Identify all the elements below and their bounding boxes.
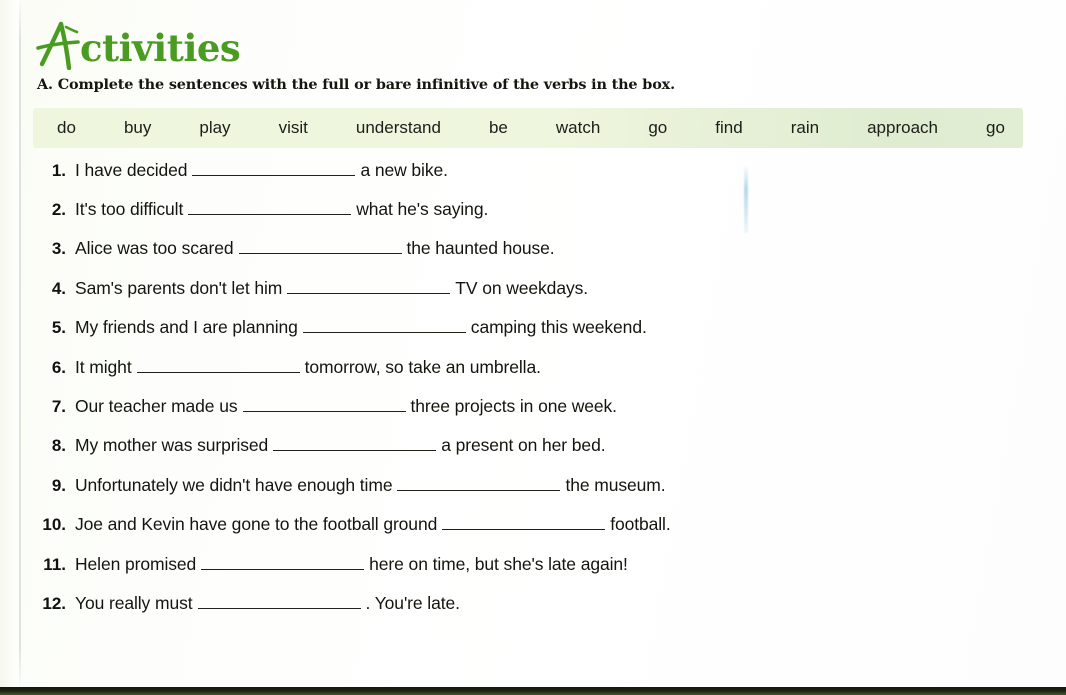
answer-blank[interactable] — [198, 591, 361, 609]
exercise-item-text-after: the museum. — [565, 475, 665, 496]
word-bank-item[interactable]: approach — [867, 118, 938, 138]
exercise-instruction: A. Complete the sentences with the full … — [37, 76, 675, 93]
answer-blank[interactable] — [243, 394, 406, 412]
word-bank-item[interactable]: rain — [791, 118, 819, 138]
exercise-item-number: 6. — [36, 358, 75, 378]
exercise-item: 2.It's too difficultwhat he's saying. — [36, 197, 1036, 236]
exercise-item-text-after: football. — [610, 514, 670, 535]
page-title: ctivities — [36, 18, 240, 70]
answer-blank[interactable] — [442, 513, 605, 531]
page-title-text: ctivities — [80, 30, 240, 70]
exercise-item-text-after: . You're late. — [366, 593, 460, 614]
exercise-item-text-after: a new bike. — [360, 160, 447, 181]
stylized-letter-a-icon — [36, 18, 82, 70]
word-bank-item[interactable]: visit — [279, 118, 308, 138]
exercise-item-number: 11. — [36, 555, 75, 575]
exercise-item-number: 7. — [36, 397, 75, 417]
word-bank-item[interactable]: buy — [124, 118, 151, 138]
exercise-item-text-before: Our teacher made us — [75, 396, 238, 417]
exercise-item-text-before: Helen promised — [75, 554, 196, 575]
exercise-item-number: 1. — [36, 161, 75, 181]
exercise-item-text-after: what he's saying. — [356, 199, 488, 220]
exercise-item-text-after: three projects in one week. — [411, 396, 617, 417]
exercise-item-number: 10. — [36, 515, 75, 535]
exercise-item-text-before: My friends and I are planning — [75, 317, 298, 338]
page-bottom-edge — [0, 687, 1066, 695]
exercise-item-text-after: TV on weekdays. — [455, 278, 588, 299]
exercise-item-text-before: Joe and Kevin have gone to the football … — [75, 514, 437, 535]
exercise-item-text-before: I have decided — [75, 160, 187, 181]
exercise-item-text-after: the haunted house. — [407, 238, 555, 259]
answer-blank[interactable] — [303, 316, 466, 334]
exercise-item-number: 9. — [36, 476, 75, 496]
exercise-item: 12.You really must. You're late. — [36, 591, 1036, 630]
exercise-item: 4.Sam's parents don't let himTV on weekd… — [36, 276, 1036, 315]
word-bank-item[interactable]: play — [199, 118, 230, 138]
answer-blank[interactable] — [137, 355, 300, 373]
word-bank-item[interactable]: be — [489, 118, 508, 138]
exercise-item-text-before: Unfortunately we didn't have enough time — [75, 475, 392, 496]
answer-blank[interactable] — [188, 197, 351, 215]
exercise-item-number: 12. — [36, 594, 75, 614]
exercise-item-text-before: It's too difficult — [75, 199, 183, 220]
answer-blank[interactable] — [192, 158, 355, 176]
exercise-item-number: 4. — [36, 279, 75, 299]
word-bank-item[interactable]: do — [57, 118, 76, 138]
exercise-item-text-before: Alice was too scared — [75, 238, 234, 259]
exercise-item: 9.Unfortunately we didn't have enough ti… — [36, 473, 1036, 512]
exercise-list: 1.I have decideda new bike.2.It's too di… — [36, 158, 1036, 631]
answer-blank[interactable] — [239, 237, 402, 255]
exercise-item-text-before: Sam's parents don't let him — [75, 278, 282, 299]
word-bank-item[interactable]: go — [648, 118, 667, 138]
exercise-item-number: 3. — [36, 239, 75, 259]
exercise-item: 1.I have decideda new bike. — [36, 158, 1036, 197]
exercise-item: 5.My friends and I are planningcamping t… — [36, 316, 1036, 355]
exercise-item-number: 2. — [36, 200, 75, 220]
exercise-item-text-after: camping this weekend. — [471, 317, 647, 338]
exercise-item: 3.Alice was too scaredthe haunted house. — [36, 237, 1036, 276]
exercise-item-text-after: a present on her bed. — [441, 435, 605, 456]
word-bank-box: do buy play visit understand be watch go… — [33, 108, 1023, 148]
word-bank-item[interactable]: go — [986, 118, 1005, 138]
exercise-item: 6.It mighttomorrow, so take an umbrella. — [36, 355, 1036, 394]
exercise-item-text-after: tomorrow, so take an umbrella. — [305, 357, 541, 378]
answer-blank[interactable] — [273, 434, 436, 452]
exercise-item-text-after: here on time, but she's late again! — [369, 554, 628, 575]
word-bank-item[interactable]: understand — [356, 118, 441, 138]
scan-seam-line — [19, 0, 21, 688]
answer-blank[interactable] — [287, 276, 450, 294]
exercise-item: 11.Helen promisedhere on time, but she's… — [36, 552, 1036, 591]
exercise-item-text-before: My mother was surprised — [75, 435, 268, 456]
word-bank-item[interactable]: find — [715, 118, 742, 138]
exercise-item: 10.Joe and Kevin have gone to the footba… — [36, 513, 1036, 552]
page-left-edge — [0, 0, 19, 688]
exercise-item: 7.Our teacher made usthree projects in o… — [36, 394, 1036, 433]
exercise-item-number: 8. — [36, 436, 75, 456]
answer-blank[interactable] — [397, 473, 560, 491]
exercise-item-text-before: It might — [75, 357, 132, 378]
exercise-item-number: 5. — [36, 318, 75, 338]
answer-blank[interactable] — [201, 552, 364, 570]
exercise-item-text-before: You really must — [75, 593, 193, 614]
exercise-item: 8.My mother was surpriseda present on he… — [36, 434, 1036, 473]
word-bank-item[interactable]: watch — [556, 118, 600, 138]
